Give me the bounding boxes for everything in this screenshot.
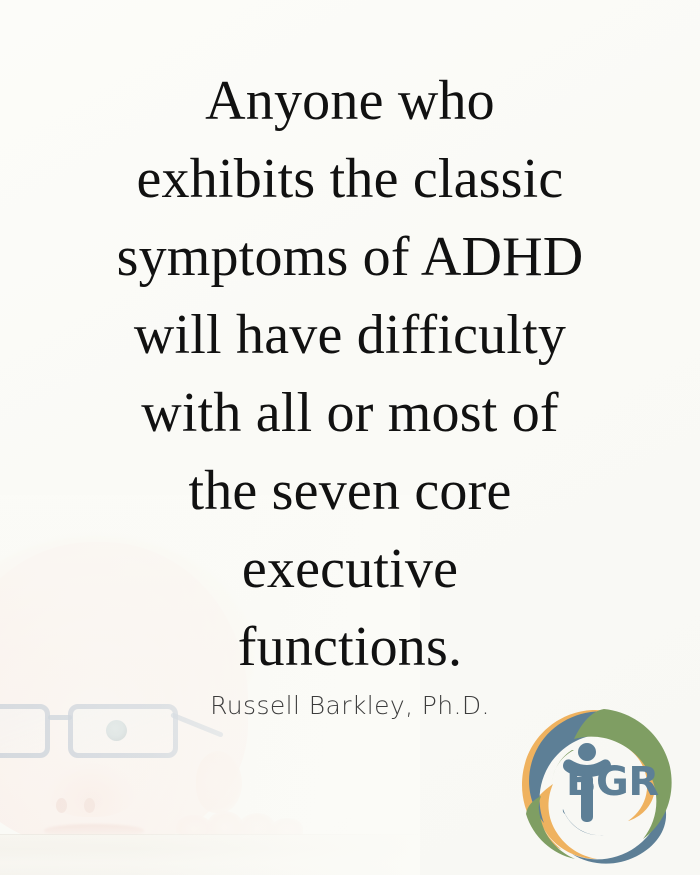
photo-finger — [239, 813, 275, 839]
photo-nose — [45, 761, 137, 817]
bgr-logo[interactable]: BGR — [514, 704, 676, 866]
photo-hand — [176, 809, 316, 839]
photo-nostril-left — [56, 798, 67, 813]
quote-line: exhibits the classic — [0, 140, 700, 218]
quote-line: functions. — [0, 608, 700, 686]
photo-right-eye — [106, 720, 127, 741]
photo-nostril-right — [84, 798, 95, 813]
quote-line: symptoms of ADHD — [0, 218, 700, 296]
photo-desk-edge — [0, 839, 420, 842]
quote-line: Anyone who — [0, 62, 700, 140]
quote-line: with all or most of — [0, 374, 700, 452]
quote-poster: Anyone who exhibits the classic symptoms… — [0, 0, 700, 875]
quote-line: will have difficulty — [0, 296, 700, 374]
photo-finger — [207, 811, 243, 839]
bgr-wordmark: BGR — [566, 762, 659, 802]
photo-desk-surface — [0, 835, 420, 875]
quote-text: Anyone who exhibits the classic symptoms… — [0, 62, 700, 686]
quote-line: executive — [0, 530, 700, 608]
photo-ear — [196, 751, 242, 813]
photo-finger — [176, 815, 212, 839]
photo-finger — [271, 818, 303, 839]
quote-line: the seven core — [0, 452, 700, 530]
photo-mouth — [44, 824, 144, 837]
